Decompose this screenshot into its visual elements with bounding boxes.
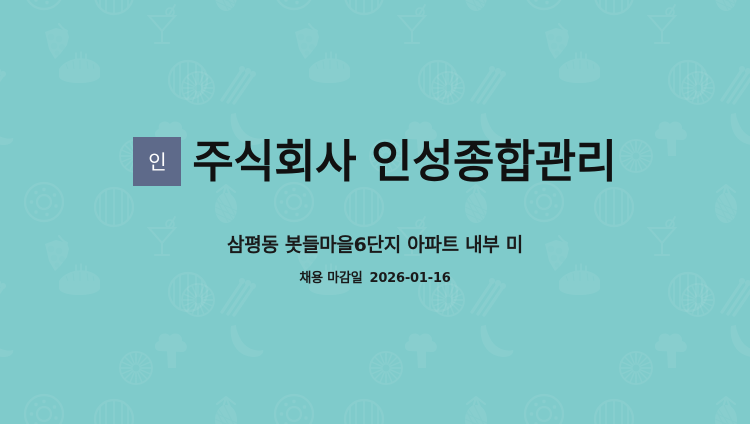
deadline-date: 2026-01-16 <box>369 271 450 287</box>
deadline-row: 채용 마감일 2026-01-16 <box>299 271 450 287</box>
company-header-row: 인 주식회사 인성종합관리 <box>133 137 616 186</box>
card-content: 인 주식회사 인성종합관리 삼평동 봇들마을6단지 아파트 내부 미 채용 마감… <box>0 0 750 424</box>
company-logo-badge: 인 <box>133 137 181 186</box>
job-posting-card: 인 주식회사 인성종합관리 삼평동 봇들마을6단지 아파트 내부 미 채용 마감… <box>0 0 750 424</box>
company-name: 주식회사 인성종합관리 <box>192 138 616 186</box>
job-title: 삼평동 봇들마을6단지 아파트 내부 미 <box>227 234 523 257</box>
deadline-label: 채용 마감일 <box>299 271 362 287</box>
